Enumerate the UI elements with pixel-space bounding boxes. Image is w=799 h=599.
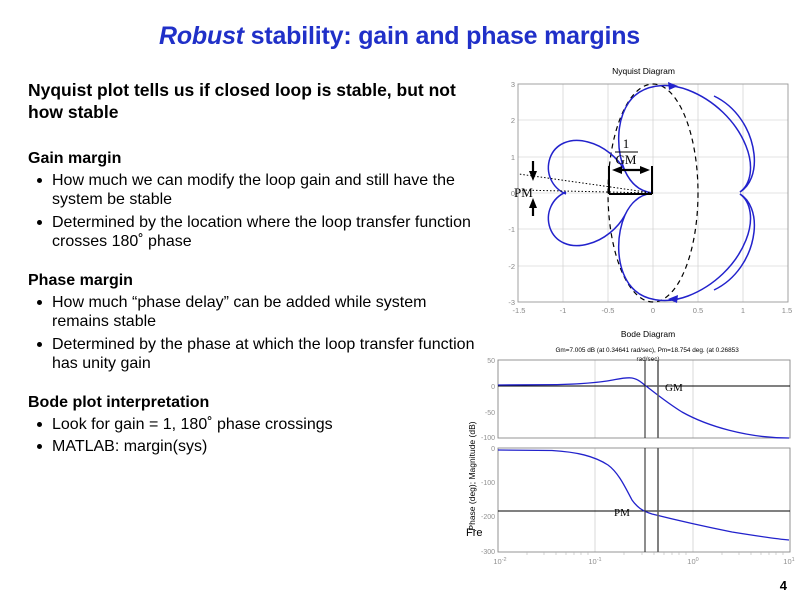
bode-y-axis-label: Phase (deg); Magnitude (dB) <box>467 421 477 530</box>
nyquist-x-ticklabels: -1.5 -1 -0.5 0 0.5 1 1.5 <box>513 306 793 315</box>
x-tick-exponent: -1 <box>597 557 602 563</box>
x-tick-base: 10 <box>493 557 501 566</box>
nyquist-y-ticklabels: 3 2 1 0 -1 -2 -3 <box>508 80 515 307</box>
x-tick-base: 10 <box>783 557 791 566</box>
magnitude-y-ticklabels: 50 0 -50 -100 <box>481 358 495 442</box>
section-heading: Phase margin <box>28 272 478 290</box>
x-tick: -1 <box>560 306 567 315</box>
slide-body: Nyquist plot tells us if closed loop is … <box>28 80 478 468</box>
x-tick-exponent: -2 <box>502 557 507 563</box>
section-gain-margin: Gain margin How much we can modify the l… <box>28 150 478 252</box>
y-tick: 1 <box>511 153 515 162</box>
bode-x-ticklabels: 10-2 10-1 100 101 <box>493 557 794 566</box>
list-item: Look for gain = 1, 180˚ phase crossings <box>28 415 478 435</box>
phase-curve <box>498 450 789 540</box>
section-bode-interpretation: Bode plot interpretation Look for gain =… <box>28 394 478 457</box>
list-item: Determined by the location where the loo… <box>28 213 478 252</box>
gain-margin-arrow <box>612 166 650 174</box>
x-tick: 0 <box>651 306 655 315</box>
pm-label: PM <box>614 507 630 519</box>
section-heading: Gain margin <box>28 150 478 168</box>
page-number: 4 <box>780 578 787 593</box>
section-phase-margin: Phase margin How much “phase delay” can … <box>28 272 478 374</box>
list-item: How much “phase delay” can be added whil… <box>28 293 478 332</box>
y-tick: 0 <box>491 384 495 391</box>
magnitude-curve <box>498 378 789 438</box>
x-tick: -1.5 <box>513 306 526 315</box>
bode-diagram: Bode Diagram Gm=7.005 dB (at 0.34641 rad… <box>462 326 797 578</box>
y-tick: -1 <box>508 225 515 234</box>
x-tick: 1 <box>741 306 745 315</box>
x-tick-base: 10 <box>588 557 596 566</box>
bode-x-axis-label: Fre <box>466 527 483 539</box>
y-tick: -300 <box>481 549 495 556</box>
y-tick: 0 <box>511 189 515 198</box>
bode-phase-panel: PM 0 -100 -200 -300 Fre <box>466 446 790 556</box>
x-tick: 10-1 <box>588 557 601 566</box>
magnitude-grid <box>498 360 790 438</box>
lead-statement: Nyquist plot tells us if closed loop is … <box>28 80 478 124</box>
bullet-list: Look for gain = 1, 180˚ phase crossings … <box>28 415 478 457</box>
x-tick: 100 <box>687 557 698 566</box>
page-title: Robust stability: gain and phase margins <box>0 22 799 51</box>
y-tick: -100 <box>481 480 495 487</box>
bode-title: Bode Diagram <box>621 329 675 339</box>
y-tick: 2 <box>511 116 515 125</box>
nyquist-plot-svg: PM 1 GM 3 2 1 0 -1 -2 -3 -1.5 -1 <box>492 66 795 318</box>
bode-magnitude-panel: GM 50 0 -50 -100 <box>481 358 790 442</box>
y-tick: 0 <box>491 446 495 453</box>
section-heading: Bode plot interpretation <box>28 394 478 412</box>
pm-label: PM <box>514 185 533 200</box>
gm-fraction-numerator: 1 <box>623 136 630 151</box>
y-tick: -100 <box>481 435 495 442</box>
x-tick: 0.5 <box>693 306 703 315</box>
x-tick: 1.5 <box>782 306 792 315</box>
bullet-list: How much we can modify the loop gain and… <box>28 171 478 252</box>
page-title-emphasis: Robust <box>159 22 244 50</box>
bullet-list: How much “phase delay” can be added whil… <box>28 293 478 374</box>
x-tick-exponent: 1 <box>792 557 795 563</box>
x-tick: 101 <box>783 557 794 566</box>
y-tick: -200 <box>481 514 495 521</box>
y-tick: 3 <box>511 80 515 89</box>
nyquist-title: Nyquist Diagram <box>492 66 795 76</box>
bode-minor-ticks <box>527 552 783 555</box>
list-item: MATLAB: margin(sys) <box>28 437 478 457</box>
x-tick-base: 10 <box>687 557 695 566</box>
bode-plot-svg: Bode Diagram Gm=7.005 dB (at 0.34641 rad… <box>462 326 797 578</box>
list-item: Determined by the phase at which the loo… <box>28 335 478 374</box>
y-tick: 50 <box>487 358 495 365</box>
x-tick-exponent: 0 <box>696 557 699 563</box>
phase-grid <box>498 448 790 552</box>
y-tick: -2 <box>508 262 515 271</box>
phase-frame <box>498 448 790 552</box>
x-tick: 10-2 <box>493 557 506 566</box>
x-tick: -0.5 <box>602 306 615 315</box>
list-item: How much we can modify the loop gain and… <box>28 171 478 210</box>
magnitude-frame <box>498 360 790 438</box>
page-title-rest: stability: gain and phase margins <box>244 22 640 50</box>
gm-fraction-denominator: GM <box>616 152 637 167</box>
nyquist-direction-arrow <box>668 82 678 303</box>
phase-y-ticklabels: 0 -100 -200 -300 <box>481 446 495 556</box>
y-tick: -50 <box>485 410 495 417</box>
nyquist-diagram: Nyquist Diagram <box>492 66 795 318</box>
bode-subtitle: Gm=7.005 dB (at 0.34641 rad/sec), Pm=18.… <box>555 347 740 363</box>
gm-label: GM <box>665 382 683 394</box>
